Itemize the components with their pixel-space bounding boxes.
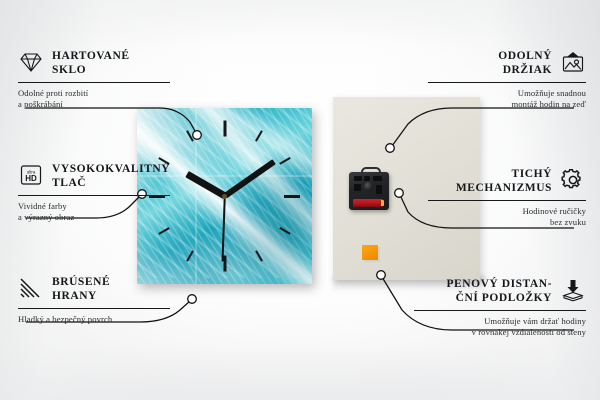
beveled-edge-icon bbox=[18, 276, 44, 300]
feature-tempered-glass: HARTOVANÉ SKLO Odolné proti rozbití a po… bbox=[18, 50, 170, 110]
wire-dot-tempered-glass bbox=[193, 131, 202, 140]
feature-description: Umožňuje snadnou montáž hodin na zeď bbox=[428, 88, 586, 110]
feature-title: HARTOVANÉ SKLO bbox=[52, 50, 130, 77]
press-pad-icon bbox=[560, 278, 586, 302]
feature-high-quality-print: ultra HD VYSOKOKVALITNÝ TLAČ Vividné far… bbox=[18, 163, 170, 223]
wire-dot-foam bbox=[377, 271, 386, 280]
wire-holder bbox=[392, 108, 574, 146]
feature-header: TICHÝ MECHANIZMUS bbox=[428, 168, 586, 195]
feature-divider bbox=[18, 82, 170, 83]
feature-foam-spacers: PENOVÝ DISTAN- ČNÍ PODLOŽKY Umožňuje vám… bbox=[414, 278, 586, 338]
feature-divider bbox=[18, 308, 170, 309]
feature-header: PENOVÝ DISTAN- ČNÍ PODLOŽKY bbox=[414, 278, 586, 305]
feature-header: BRÚSENÉ HRANY bbox=[18, 276, 170, 303]
feature-description: Odolné proti rozbití a poškrábání bbox=[18, 88, 170, 110]
feature-description: Vividné farby a výrazný obraz bbox=[18, 201, 170, 223]
feature-title: PENOVÝ DISTAN- ČNÍ PODLOŽKY bbox=[446, 278, 552, 305]
feature-title: BRÚSENÉ HRANY bbox=[52, 276, 110, 303]
picture-hanger-icon bbox=[560, 50, 586, 74]
feature-silent-mechanism: TICHÝ MECHANIZMUS Hodinové ručičky bez z… bbox=[428, 168, 586, 228]
feature-divider bbox=[414, 310, 586, 311]
feature-divider bbox=[428, 200, 586, 201]
svg-text:HD: HD bbox=[25, 174, 37, 183]
feature-divider bbox=[428, 82, 586, 83]
feature-header: ultra HD VYSOKOKVALITNÝ TLAČ bbox=[18, 163, 170, 190]
feature-description: Umožňuje vám držať hodiny v rovnakej vzd… bbox=[414, 316, 586, 338]
feature-title: TICHÝ MECHANIZMUS bbox=[456, 168, 552, 195]
wire-dot-holder bbox=[386, 144, 395, 153]
feature-header: HARTOVANÉ SKLO bbox=[18, 50, 170, 77]
feature-durable-holder: ODOLNÝ DRŽIAK Umožňuje snadnou montáž ho… bbox=[428, 50, 586, 110]
feature-divider bbox=[18, 195, 170, 196]
ultra-hd-icon: ultra HD bbox=[18, 163, 44, 187]
gear-icon bbox=[560, 168, 586, 192]
feature-title: ODOLNÝ DRŽIAK bbox=[498, 50, 552, 77]
diamond-icon bbox=[18, 50, 44, 74]
feature-header: ODOLNÝ DRŽIAK bbox=[428, 50, 586, 77]
infographic-stage: HARTOVANÉ SKLO Odolné proti rozbití a po… bbox=[0, 0, 600, 400]
feature-description: Hladký a bezpečný povrch bbox=[18, 314, 170, 325]
wire-dot-mechanism bbox=[395, 189, 404, 198]
feature-ground-edges: BRÚSENÉ HRANY Hladký a bezpečný povrch bbox=[18, 276, 170, 325]
feature-title: VYSOKOKVALITNÝ TLAČ bbox=[52, 163, 170, 190]
feature-description: Hodinové ručičky bez zvuku bbox=[428, 206, 586, 228]
wire-tempered-glass bbox=[26, 108, 196, 133]
wire-dot-edges bbox=[188, 295, 197, 304]
